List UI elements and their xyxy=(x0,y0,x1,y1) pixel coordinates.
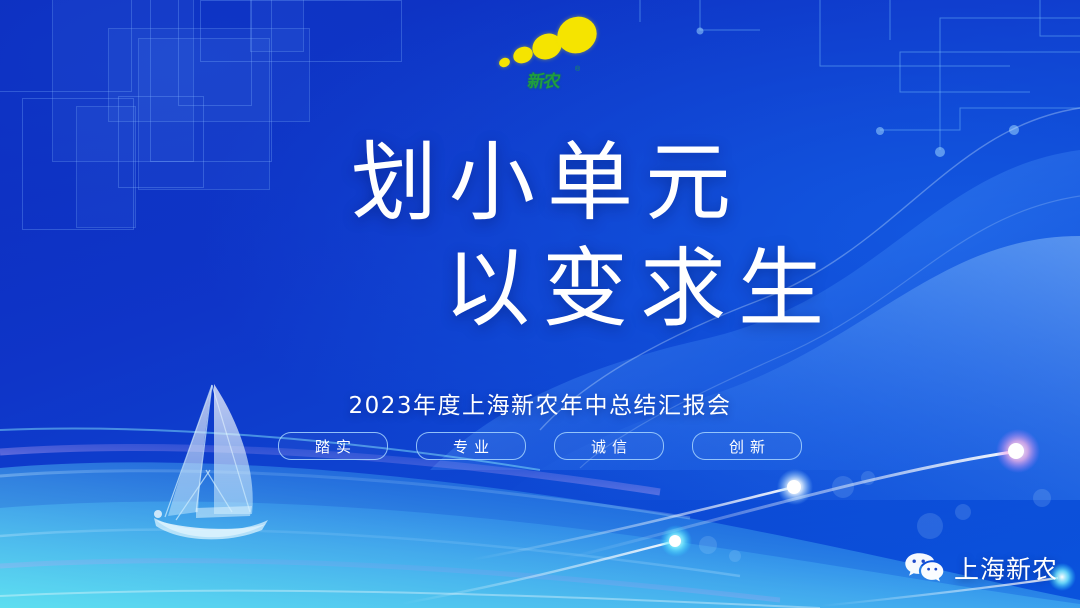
decor-square xyxy=(0,0,132,92)
headline-line-2: 以变求生 xyxy=(0,246,1080,332)
value-tag-3: 诚信 xyxy=(554,432,664,460)
value-tag-2: 专业 xyxy=(416,432,526,460)
headline-line-1: 划小单元 xyxy=(0,140,1080,226)
circuit-lines-group xyxy=(640,0,1080,150)
value-tags-row: 踏实 专业 诚信 创新 xyxy=(0,432,1080,460)
decor-square xyxy=(52,0,194,162)
page-title: 划小单元 以变求生 xyxy=(0,140,1080,332)
wechat-account-name: 上海新农 xyxy=(954,550,1058,586)
logo-dot-1 xyxy=(498,56,512,69)
circuit-nodes-group xyxy=(697,28,1020,158)
decor-square xyxy=(108,28,310,122)
value-tag-4: 创新 xyxy=(692,432,802,460)
decor-square xyxy=(178,0,252,106)
wechat-icon xyxy=(903,551,945,585)
event-subtitle: 2023年度上海新农年中总结汇报会 xyxy=(0,386,1080,420)
bokeh-group xyxy=(699,471,1051,562)
brand-logo: 新农 ® xyxy=(497,14,595,96)
value-tag-1: 踏实 xyxy=(278,432,388,460)
logo-wordmark: 新农 xyxy=(512,68,575,90)
wechat-account-footer: 上海新农 xyxy=(903,550,1058,586)
logo-trademark-icon: ® xyxy=(575,66,580,73)
decor-square xyxy=(250,0,304,52)
decor-square xyxy=(150,0,272,162)
decor-square xyxy=(200,0,402,62)
poster-canvas: 新农 ® 划小单元 以变求生 2023年度上海新农年中总结汇报会 踏实 专业 诚… xyxy=(0,0,1080,608)
